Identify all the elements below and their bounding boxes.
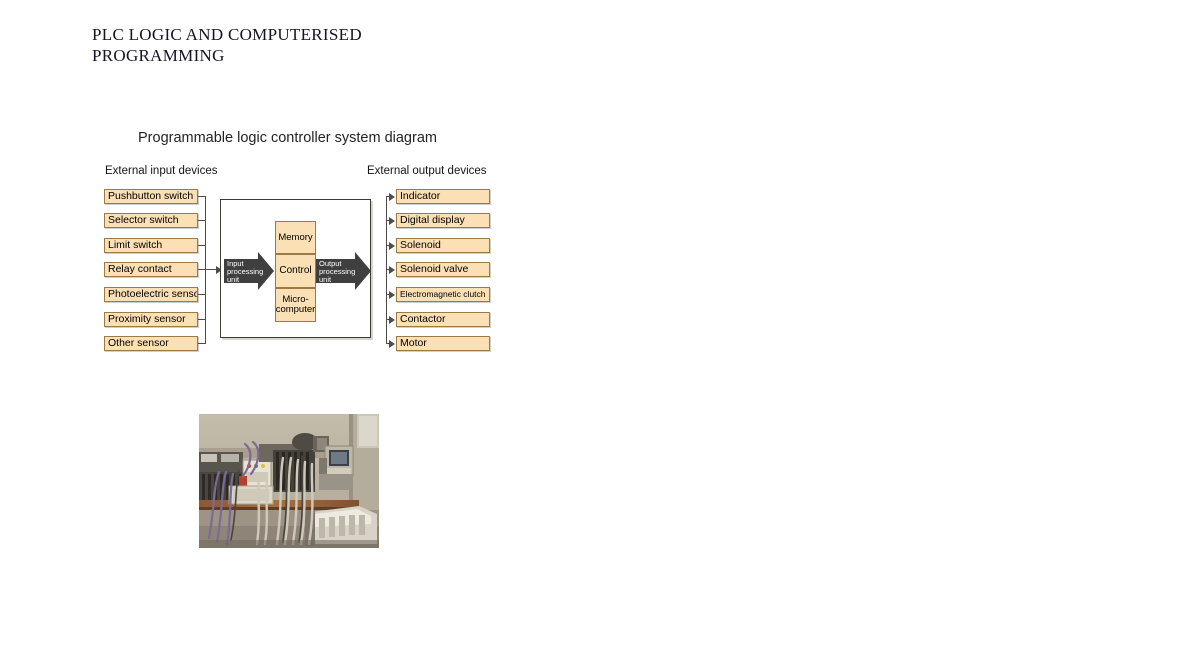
external-output-devices-heading: External output devices [367, 165, 487, 177]
output-arrow-icon [389, 291, 395, 299]
input-bus-line [205, 196, 206, 344]
output-device-box[interactable]: Solenoid valve [396, 262, 490, 277]
output-arrow-icon [389, 266, 395, 274]
output-processing-unit-arrow[interactable]: Output processing unit [316, 252, 371, 290]
diagram-title: Programmable logic controller system dia… [138, 130, 437, 146]
input-device-box[interactable]: Photoelectric sensor [104, 287, 198, 302]
output-device-box[interactable]: Solenoid [396, 238, 490, 253]
input-device-box[interactable]: Pushbutton switch [104, 189, 198, 204]
output-arrow-icon [389, 242, 395, 250]
plc-lab-photo-image [199, 414, 379, 548]
cpu-memory-block[interactable]: Memory [275, 221, 316, 254]
cpu-control-block[interactable]: Control [275, 254, 316, 288]
input-device-box[interactable]: Selector switch [104, 213, 198, 228]
output-arrow-icon [389, 340, 395, 348]
output-processing-unit-label: Output processing unit [319, 260, 355, 284]
output-device-box[interactable]: Electromagnetic clutch [396, 287, 490, 302]
plc-system-diagram: Programmable logic controller system dia… [0, 0, 520, 380]
input-device-box[interactable]: Other sensor [104, 336, 198, 351]
input-device-box[interactable]: Relay contact [104, 262, 198, 277]
output-arrow-icon [389, 217, 395, 225]
arrow-head-icon [355, 252, 371, 290]
input-device-box[interactable]: Limit switch [104, 238, 198, 253]
input-processing-unit-arrow[interactable]: Input processing unit [224, 252, 274, 290]
output-device-box[interactable]: Contactor [396, 312, 490, 327]
output-device-box[interactable]: Indicator [396, 189, 490, 204]
output-arrow-icon [389, 316, 395, 324]
output-device-box[interactable]: Motor [396, 336, 490, 351]
input-processing-unit-label: Input processing unit [227, 260, 263, 284]
external-input-devices-heading: External input devices [105, 165, 218, 177]
output-arrow-icon [389, 193, 395, 201]
input-device-box[interactable]: Proximity sensor [104, 312, 198, 327]
plc-lab-photo [199, 414, 379, 548]
cpu-microcomputer-block[interactable]: Micro- computer [275, 288, 316, 322]
output-bus-line [386, 196, 387, 344]
output-device-box[interactable]: Digital display [396, 213, 490, 228]
